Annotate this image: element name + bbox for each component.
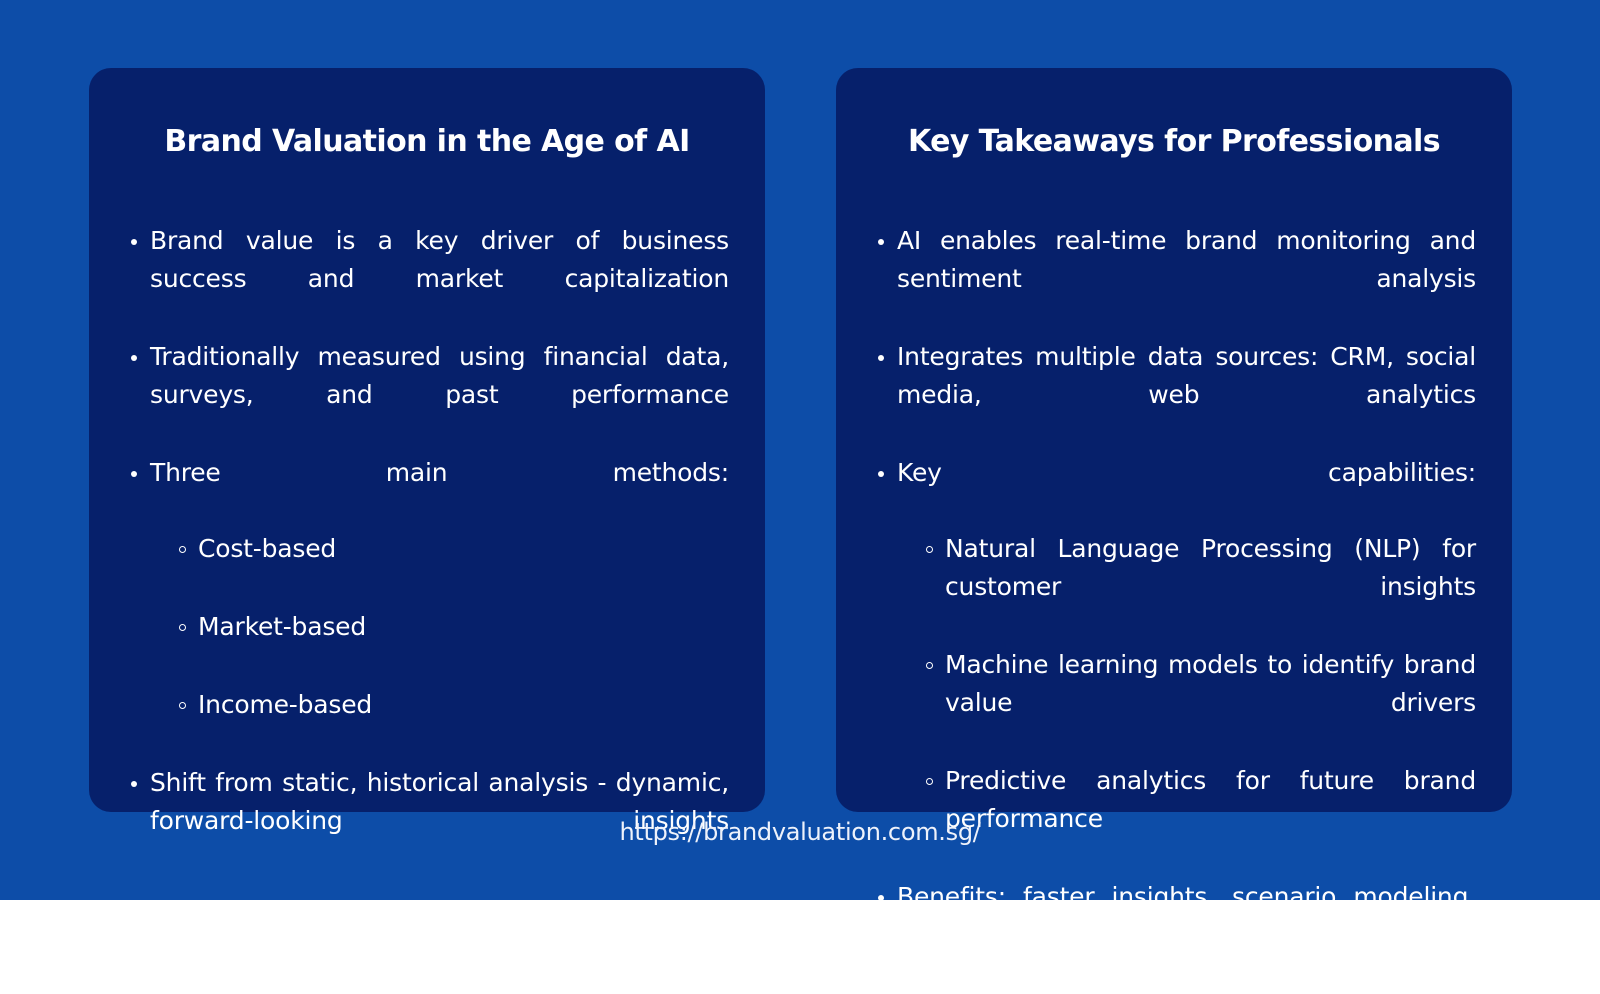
bullet-item: Benefits: faster insights, scenario mode… (872, 878, 1476, 992)
bullet-item: AI enables real-time brand monitoring an… (872, 222, 1476, 336)
bullet-text: Traditionally measured using financial d… (150, 338, 729, 452)
bullet-item: Traditionally measured using financial d… (125, 338, 729, 452)
bullet-text: Benefits: faster insights, scenario mode… (897, 878, 1476, 992)
card-title: Brand Valuation in the Age of AI (125, 124, 729, 160)
bullet-item: Key capabilities: Natural Language Proce… (872, 454, 1476, 876)
bullet-item: Integrates multiple data sources: CRM, s… (872, 338, 1476, 452)
source-url[interactable]: https://brandvaluation.com.sg/ (0, 818, 1600, 846)
bullet-text: Integrates multiple data sources: CRM, s… (897, 338, 1476, 452)
bullet-item: Brand value is a key driver of business … (125, 222, 729, 336)
slide-canvas: Brand Valuation in the Age of AI Brand v… (0, 0, 1600, 900)
cards-container: Brand Valuation in the Age of AI Brand v… (89, 68, 1512, 812)
sub-bullet-item: Income-based (150, 686, 729, 762)
card-title: Key Takeaways for Professionals (872, 124, 1476, 160)
sub-bullet-text: Machine learning models to identify bran… (945, 646, 1476, 760)
sub-bullet-text: Income-based (198, 686, 729, 762)
bullet-text: Key capabilities: (897, 454, 1476, 530)
card-key-takeaways: Key Takeaways for Professionals AI enabl… (836, 68, 1512, 812)
bullet-text: AI enables real-time brand monitoring an… (897, 222, 1476, 336)
card-brand-valuation: Brand Valuation in the Age of AI Brand v… (89, 68, 765, 812)
sub-bullet-text: Natural Language Processing (NLP) for cu… (945, 530, 1476, 644)
sub-bullet-item: Natural Language Processing (NLP) for cu… (897, 530, 1476, 644)
bullet-item: Three main methods: Cost-based Market-ba… (125, 454, 729, 762)
sub-bullet-text: Cost-based (198, 530, 729, 606)
sub-bullet-item: Market-based (150, 608, 729, 684)
sub-bullet-list: Cost-based Market-based Income-based (150, 530, 729, 762)
bullet-text: Brand value is a key driver of business … (150, 222, 729, 336)
sub-bullet-item: Cost-based (150, 530, 729, 606)
bullet-list: AI enables real-time brand monitoring an… (872, 222, 1476, 994)
sub-bullet-text: Market-based (198, 608, 729, 684)
sub-bullet-item: Machine learning models to identify bran… (897, 646, 1476, 760)
bullet-list: Brand value is a key driver of business … (125, 222, 729, 880)
bullet-text: Three main methods: (150, 454, 729, 530)
